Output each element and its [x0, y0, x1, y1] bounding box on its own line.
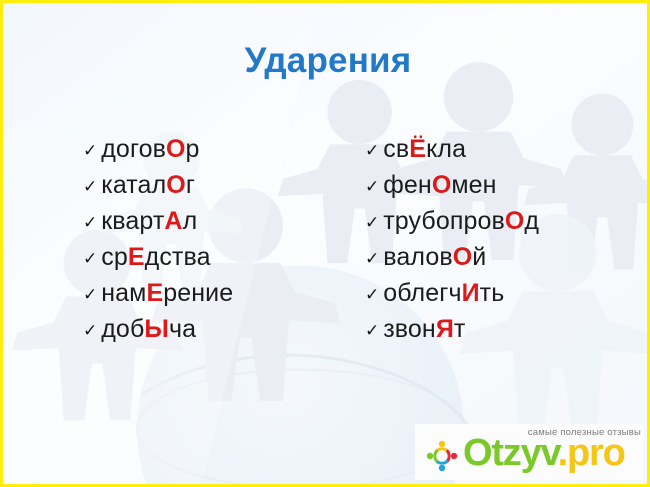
- list-item: ✓ намЕрение: [83, 279, 233, 315]
- checkmark-icon: ✓: [83, 214, 97, 231]
- stressed-letter: Я: [436, 315, 454, 343]
- stress-word: облегчИть: [383, 279, 504, 308]
- word-suffix: т: [454, 315, 466, 343]
- stress-word: намЕрение: [101, 279, 233, 308]
- stressed-letter: О: [505, 207, 525, 235]
- list-item: ✓ валовОй: [365, 243, 539, 279]
- stressed-letter: Ё: [409, 135, 426, 163]
- list-item: ✓ договОр: [83, 135, 233, 171]
- word-prefix: св: [383, 135, 409, 163]
- word-prefix: катал: [101, 171, 166, 199]
- word-suffix: д: [524, 207, 539, 235]
- word-suffix: ть: [480, 279, 505, 307]
- stress-word: трубопровОд: [383, 207, 539, 236]
- list-item: ✓ добЫча: [83, 315, 233, 351]
- brand-tld: .pro: [558, 432, 625, 474]
- word-suffix: ча: [169, 315, 196, 343]
- checkmark-icon: ✓: [83, 322, 97, 339]
- stressed-letter: И: [462, 279, 480, 307]
- word-prefix: нам: [101, 279, 146, 307]
- stress-word: квартАл: [101, 207, 197, 236]
- watermark-text: самые полезные отзывы Otzyv.pro: [465, 424, 643, 480]
- word-prefix: звон: [383, 315, 436, 343]
- stressed-letter: Е: [146, 279, 163, 307]
- word-suffix: р: [186, 135, 200, 163]
- checkmark-icon: ✓: [365, 250, 379, 267]
- word-prefix: облегч: [383, 279, 461, 307]
- stress-word: каталОг: [101, 171, 195, 200]
- otzyv-people-logo-icon: [421, 436, 463, 476]
- checkmark-icon: ✓: [83, 250, 97, 267]
- watermark-brand[interactable]: Otzyv.pro: [463, 434, 625, 472]
- word-list-right: ✓ свЁкла ✓ фенОмен ✓ трубопровОд ✓ валов…: [365, 135, 539, 351]
- presentation-slide: Ударения ✓ договОр ✓ каталОг ✓ квартАл ✓…: [0, 0, 650, 487]
- slide-title: Ударения: [3, 41, 650, 81]
- checkmark-icon: ✓: [83, 286, 97, 303]
- stress-word: договОр: [101, 135, 199, 164]
- word-prefix: кварт: [101, 207, 164, 235]
- checkmark-icon: ✓: [365, 214, 379, 231]
- word-prefix: фен: [383, 171, 432, 199]
- stressed-letter: О: [166, 171, 186, 199]
- stress-word: срЕдства: [101, 243, 210, 272]
- list-item: ✓ срЕдства: [83, 243, 233, 279]
- stress-word: фенОмен: [383, 171, 496, 200]
- brand-name: Otzyv: [463, 432, 558, 474]
- list-item: ✓ свЁкла: [365, 135, 539, 171]
- site-watermark[interactable]: самые полезные отзывы Otzyv.pro: [415, 424, 643, 480]
- word-prefix: доб: [101, 315, 144, 343]
- word-suffix: г: [186, 171, 195, 199]
- word-prefix: трубопров: [383, 207, 505, 235]
- stressed-letter: О: [166, 135, 186, 163]
- word-suffix: кла: [426, 135, 466, 163]
- list-item: ✓ квартАл: [83, 207, 233, 243]
- stress-word: валовОй: [383, 243, 486, 272]
- word-prefix: ср: [101, 243, 128, 271]
- stress-word: свЁкла: [383, 135, 466, 164]
- list-item: ✓ каталОг: [83, 171, 233, 207]
- list-item: ✓ трубопровОд: [365, 207, 539, 243]
- checkmark-icon: ✓: [365, 286, 379, 303]
- checkmark-icon: ✓: [83, 142, 97, 159]
- word-list-left: ✓ договОр ✓ каталОг ✓ квартАл ✓ срЕдства…: [83, 135, 233, 351]
- word-suffix: мен: [451, 171, 496, 199]
- stressed-letter: О: [453, 243, 473, 271]
- checkmark-icon: ✓: [83, 178, 97, 195]
- list-item: ✓ фенОмен: [365, 171, 539, 207]
- stressed-letter: Е: [128, 243, 145, 271]
- word-suffix: й: [472, 243, 486, 271]
- stressed-letter: А: [164, 207, 182, 235]
- stress-word: звонЯт: [383, 315, 465, 344]
- stressed-letter: О: [432, 171, 452, 199]
- stress-word: добЫча: [101, 315, 196, 344]
- checkmark-icon: ✓: [365, 142, 379, 159]
- word-suffix: рение: [163, 279, 233, 307]
- list-item: ✓ звонЯт: [365, 315, 539, 351]
- stressed-letter: Ы: [144, 315, 169, 343]
- word-suffix: дства: [145, 243, 211, 271]
- word-prefix: валов: [383, 243, 452, 271]
- list-item: ✓ облегчИть: [365, 279, 539, 315]
- checkmark-icon: ✓: [365, 322, 379, 339]
- word-prefix: догов: [101, 135, 166, 163]
- checkmark-icon: ✓: [365, 178, 379, 195]
- word-suffix: л: [183, 207, 198, 235]
